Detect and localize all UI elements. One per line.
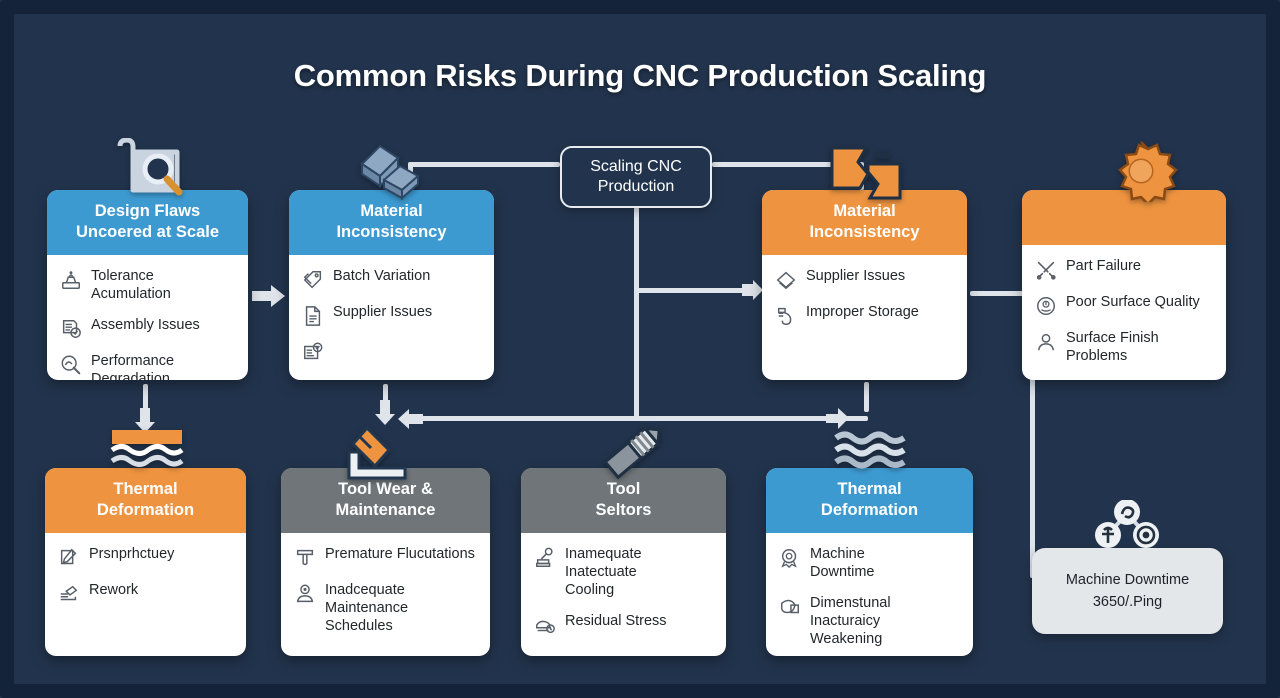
list-item[interactable]: Improper Storage bbox=[775, 304, 955, 327]
connector-hub-trunk bbox=[634, 207, 639, 420]
list-item-label: Dimenstunal Inacturaicy Weakening bbox=[810, 595, 891, 649]
list-item[interactable]: Tolerance Acumulation bbox=[60, 268, 236, 304]
card-title: Thermal Deformation bbox=[97, 479, 194, 521]
list-item-label: Batch Variation bbox=[333, 268, 430, 286]
list-item-label: Premature Flucutations bbox=[325, 546, 475, 564]
arrow-to-card3 bbox=[742, 279, 764, 301]
card-title: Material Inconsistency bbox=[336, 201, 446, 243]
deformed-part-icon bbox=[779, 596, 801, 618]
list-item[interactable]: Inadcequate Maintenance Schedules bbox=[294, 582, 478, 636]
list-item[interactable]: Batch Variation bbox=[302, 268, 482, 291]
hub-node-scaling-cnc-production[interactable]: Scaling CNC Production bbox=[560, 146, 712, 208]
card-title: Material Inconsistency bbox=[809, 201, 919, 243]
worn-endmill-icon bbox=[345, 424, 427, 482]
rework-stack-icon bbox=[58, 583, 80, 605]
connector-feedback-bus bbox=[418, 416, 868, 421]
list-item-label: Inamequate Inatectuate Cooling bbox=[565, 546, 642, 600]
card-material-inconsistency-orange[interactable]: Material Inconsistency Supplier Issues I… bbox=[762, 190, 967, 380]
heat-waves-blue-icon bbox=[834, 430, 906, 474]
saw-blade-icon bbox=[1104, 140, 1178, 202]
performance-gauge-icon bbox=[60, 354, 82, 376]
blueprint-magnifier-icon bbox=[112, 138, 184, 200]
coolant-nozzle-icon bbox=[534, 547, 556, 569]
card-title: Design Flaws Uncoered at Scale bbox=[76, 201, 219, 243]
card-part-quality[interactable]: Part Failure Poor Surface Quality Surfac… bbox=[1022, 190, 1226, 380]
list-item[interactable]: Performance Degradation bbox=[60, 353, 236, 380]
list-item[interactable]: Rework bbox=[58, 582, 234, 605]
card-items: Part Failure Poor Surface Quality Surfac… bbox=[1022, 245, 1226, 380]
list-item-label: Improper Storage bbox=[806, 304, 919, 322]
list-item[interactable]: Supplier Issues bbox=[302, 304, 482, 327]
list-item-label: Rework bbox=[89, 582, 138, 600]
heat-waves-orange-icon bbox=[110, 428, 184, 474]
terminal-line-1: Machine Downtime bbox=[1066, 569, 1189, 591]
list-item[interactable]: Residual Stress bbox=[534, 613, 714, 636]
list-item-label: Machine Downtime bbox=[810, 546, 874, 582]
card-tool-sellors[interactable]: Tool Seltors Inamequate Inatectuate Cool… bbox=[521, 468, 726, 656]
card-title: Thermal Deformation bbox=[821, 479, 918, 521]
list-item[interactable]: Surface Finish Problems bbox=[1035, 330, 1214, 366]
card-header: Thermal Deformation bbox=[766, 468, 973, 533]
list-item-label: Tolerance Acumulation bbox=[91, 268, 236, 304]
list-item[interactable]: Machine Downtime bbox=[779, 546, 961, 582]
page-title: Common Risks During CNC Production Scali… bbox=[0, 58, 1280, 94]
card-items: Tolerance Acumulation Assembly Issues Pe… bbox=[47, 255, 248, 380]
drill-bit-icon bbox=[596, 422, 670, 484]
network-nodes-icon bbox=[1086, 500, 1168, 553]
storage-clamp-icon bbox=[775, 305, 797, 327]
maintenance-person-icon bbox=[294, 583, 316, 605]
list-item[interactable]: Dimenstunal Inacturaicy Weakening bbox=[779, 595, 961, 649]
arrow-card1-to-card2 bbox=[252, 283, 286, 309]
list-item[interactable]: Poor Surface Quality bbox=[1035, 294, 1214, 317]
arrow-feedback-right bbox=[826, 407, 850, 430]
card-items: Machine Downtime Dimenstunal Inacturaicy… bbox=[766, 533, 973, 656]
connector-hub-left bbox=[410, 162, 560, 167]
connector-trunk-to-card3 bbox=[634, 288, 744, 293]
operator-icon bbox=[1035, 331, 1057, 353]
connector-card3-down bbox=[864, 382, 869, 412]
assembly-checklist-icon bbox=[60, 318, 82, 340]
list-item[interactable]: Premature Flucutations bbox=[294, 546, 478, 569]
layers-diamond-icon bbox=[775, 269, 797, 291]
list-item-label: Poor Surface Quality bbox=[1066, 294, 1200, 312]
batch-tags-icon bbox=[302, 269, 324, 291]
list-item[interactable]: Supplier Issues bbox=[775, 268, 955, 291]
residual-stress-icon bbox=[534, 614, 556, 636]
terminal-line-2: 3650/.Ping bbox=[1093, 591, 1162, 613]
document-icon bbox=[302, 305, 324, 327]
pencil-note-icon bbox=[58, 547, 80, 569]
card-title: Tool Seltors bbox=[596, 479, 652, 521]
connector-card8-to-pill bbox=[975, 291, 979, 296]
card-items: Supplier Issues Improper Storage bbox=[762, 255, 967, 341]
metal-blocks-icon bbox=[358, 140, 424, 200]
card-header: Thermal Deformation bbox=[45, 468, 246, 533]
machine-gear-icon bbox=[779, 547, 801, 569]
tolerance-stack-icon bbox=[60, 269, 82, 291]
list-item-label: Supplier Issues bbox=[333, 304, 432, 322]
list-item-label: Performance Degradation bbox=[91, 353, 174, 380]
card-items: Prsnprhctuey Rework bbox=[45, 533, 246, 619]
card-items: Batch Variation Supplier Issues bbox=[289, 255, 494, 377]
terminal-machine-downtime[interactable]: Machine Downtime 3650/.Ping bbox=[1032, 548, 1223, 634]
card-tool-wear[interactable]: Tool Wear & Maintenance Premature Flucut… bbox=[281, 468, 490, 656]
arrow-card2-down bbox=[374, 400, 396, 426]
diagram-canvas: Common Risks During CNC Production Scali… bbox=[0, 0, 1280, 698]
list-item[interactable]: Part Failure bbox=[1035, 258, 1214, 281]
cracked-block-icon bbox=[830, 142, 902, 200]
card-material-inconsistency-blue[interactable]: Material Inconsistency Batch Variation S… bbox=[289, 190, 494, 380]
list-item-label: Surface Finish Problems bbox=[1066, 330, 1159, 366]
certified-document-icon bbox=[302, 341, 324, 363]
card-title: Tool Wear & Maintenance bbox=[336, 479, 436, 521]
card-thermal-deformation-orange[interactable]: Thermal Deformation Prsnprhctuey Rework bbox=[45, 468, 246, 656]
card-design-flaws[interactable]: Design Flaws Uncoered at Scale Tolerance… bbox=[47, 190, 248, 380]
list-item-label: Part Failure bbox=[1066, 258, 1141, 276]
list-item-label: Prsnprhctuey bbox=[89, 546, 174, 564]
card-thermal-deformation-blue[interactable]: Thermal Deformation Machine Downtime Dim… bbox=[766, 468, 973, 656]
list-item-label: Assembly Issues bbox=[91, 317, 200, 335]
hub-label: Scaling CNC Production bbox=[590, 157, 682, 196]
surface-dial-icon bbox=[1035, 295, 1057, 317]
list-item[interactable]: Assembly Issues bbox=[60, 317, 236, 340]
list-item[interactable] bbox=[302, 340, 482, 363]
list-item[interactable]: Inamequate Inatectuate Cooling bbox=[534, 546, 714, 600]
list-item[interactable]: Prsnprhctuey bbox=[58, 546, 234, 569]
card-items: Inamequate Inatectuate Cooling Residual … bbox=[521, 533, 726, 650]
list-item-label: Residual Stress bbox=[565, 613, 667, 631]
broken-tool-icon bbox=[1035, 259, 1057, 281]
card-items: Premature Flucutations Inadcequate Maint… bbox=[281, 533, 490, 650]
list-item-label: Supplier Issues bbox=[806, 268, 905, 286]
t-tool-icon bbox=[294, 547, 316, 569]
list-item-label: Inadcequate Maintenance Schedules bbox=[325, 582, 408, 636]
